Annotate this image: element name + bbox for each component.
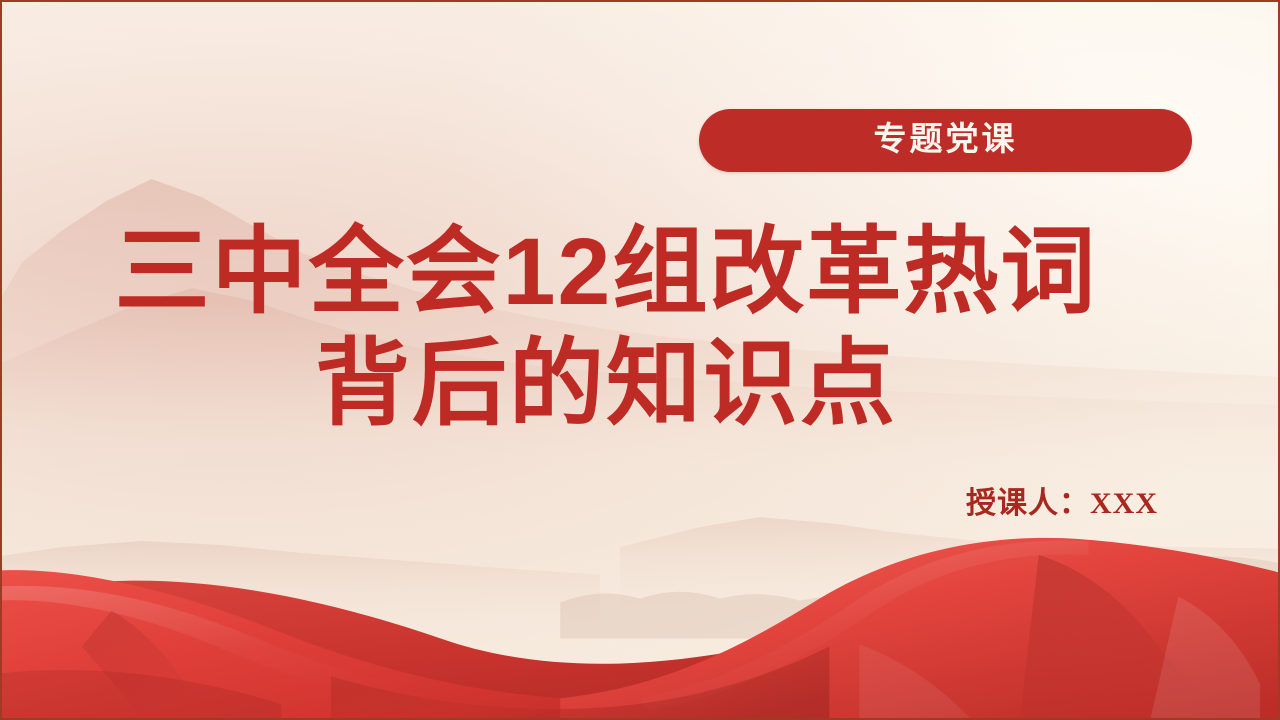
title-slide: 专题党课 三中全会12组改革热词 背后的知识点 授课人：XXX <box>0 0 1280 720</box>
slide-title: 三中全会12组改革热词 背后的知识点 <box>2 216 1202 440</box>
presenter-label: 授课人：XXX <box>966 478 1158 522</box>
topic-badge: 专题党课 <box>699 109 1192 172</box>
title-line-2: 背后的知识点 <box>315 328 897 440</box>
title-line-1: 三中全会12组改革热词 <box>115 216 1098 328</box>
topic-badge-label: 专题党课 <box>874 124 1018 157</box>
